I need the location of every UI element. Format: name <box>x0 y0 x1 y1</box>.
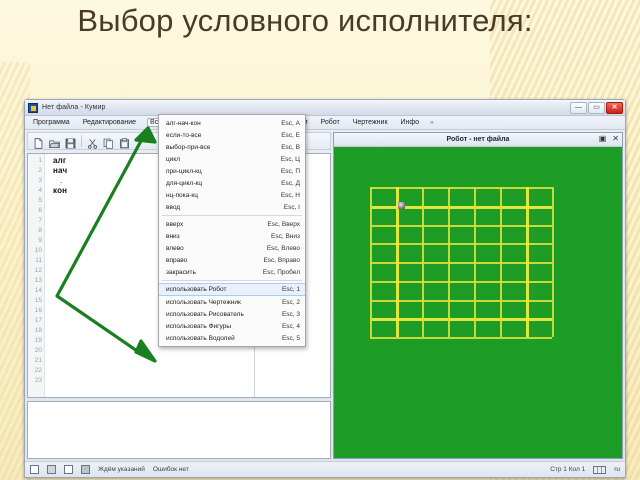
insert-menu-item[interactable]: использовать ФигурыEsc, 4 <box>159 320 305 332</box>
grid-line-vertical <box>396 187 399 337</box>
insert-menu-item[interactable]: если-то-всеEsc, Е <box>159 129 305 141</box>
grid-line-horizontal <box>370 337 552 339</box>
menu-robot[interactable]: Робот <box>319 118 342 127</box>
menu-info[interactable]: Инфо <box>399 118 422 127</box>
open-folder-icon[interactable] <box>49 136 60 147</box>
insert-menu-item-label: использовать Чертежник <box>166 299 276 306</box>
insert-dropdown-menu[interactable]: алг-нач-конEsc, Аесли-то-всеEsc, Евыбор-… <box>158 114 306 347</box>
insert-menu-item-shortcut: Esc, Вниз <box>265 233 300 240</box>
copy-icon[interactable] <box>103 136 114 147</box>
robot-maximize-button[interactable]: ▣ <box>599 134 607 144</box>
insert-menu-item-shortcut: Esc, 2 <box>276 299 300 306</box>
insert-menu-item[interactable]: влевоEsc, Влево <box>159 242 305 254</box>
cut-scissors-icon[interactable] <box>87 136 98 147</box>
window-controls: — ▭ ✕ <box>570 102 623 114</box>
insert-menu-item-label: вниз <box>166 233 265 240</box>
line-number: 15 <box>35 296 44 306</box>
robot-pane: Робот - нет файла ▣ ✕ <box>333 132 623 459</box>
grid-line-vertical <box>552 187 554 337</box>
insert-menu-item-label: алг-нач-кон <box>166 120 275 127</box>
insert-menu-item[interactable]: выбор-при-всеEsc, В <box>159 141 305 153</box>
line-number: 21 <box>35 356 44 366</box>
insert-menu-item-shortcut: Esc, 3 <box>276 311 300 318</box>
line-number: 14 <box>35 286 44 296</box>
insert-menu-item-shortcut: Esc, Вправо <box>257 257 300 264</box>
insert-menu-item-shortcut: Esc, I <box>278 204 300 211</box>
line-number: 1 <box>38 156 44 166</box>
insert-menu-item-shortcut: Esc, Н <box>275 192 300 199</box>
insert-menu-item[interactable]: использовать РоботEsc, 1 <box>159 283 305 296</box>
insert-menu-item-label: использовать Рисователь <box>166 311 276 318</box>
line-number: 20 <box>35 346 44 356</box>
insert-menu-item[interactable]: вверхEsc, Вверх <box>159 218 305 230</box>
insert-menu-item-label: влево <box>166 245 261 252</box>
robot-window-controls: ▣ ✕ <box>599 134 619 144</box>
statusbar-right: Стр 1 Кол 1 ru <box>550 466 620 474</box>
insert-menu-item-label: выбор-при-все <box>166 144 275 151</box>
kumir-app-icon <box>28 103 38 113</box>
insert-menu-item-shortcut: Esc, П <box>275 168 300 175</box>
status-hint: Ждём указаний <box>98 466 145 473</box>
insert-menu-item-label: вверх <box>166 221 261 228</box>
close-button[interactable]: ✕ <box>606 102 623 114</box>
insert-menu-item[interactable]: при-цикл-кцEsc, П <box>159 165 305 177</box>
insert-menu-item[interactable]: алг-нач-конEsc, А <box>159 117 305 129</box>
keyboard-layout-icon[interactable] <box>593 466 606 474</box>
robot-window-titlebar: Робот - нет файла ▣ ✕ <box>334 133 622 147</box>
window-titlebar: Нет файла - Кумир — ▭ ✕ <box>25 100 625 116</box>
menubar: Программа Редактирование Вставка Выполне… <box>25 116 625 130</box>
line-number: 4 <box>38 186 44 196</box>
line-number: 6 <box>38 206 44 216</box>
insert-menu-item-shortcut: Esc, 5 <box>276 335 300 342</box>
menu-separator <box>162 215 302 216</box>
line-number: 23 <box>35 376 44 386</box>
insert-menu-item[interactable]: использовать ВодолейEsc, 5 <box>159 332 305 344</box>
line-number: 2 <box>38 166 44 176</box>
insert-menu-item-label: использовать Фигуры <box>166 323 276 330</box>
insert-menu-item[interactable]: нц-пока-кцEsc, Н <box>159 189 305 201</box>
robot-grid <box>370 187 552 337</box>
minimize-button[interactable]: — <box>570 102 587 114</box>
insert-menu-item-shortcut: Esc, Пробел <box>257 269 300 276</box>
insert-menu-item-label: для-цикл-кц <box>166 180 275 187</box>
menu-programma[interactable]: Программа <box>31 118 72 127</box>
new-file-icon[interactable] <box>33 136 44 147</box>
window-body: 1234567891011121314151617181920212223 ал… <box>25 130 625 461</box>
kumir-application-window: Нет файла - Кумир — ▭ ✕ Программа Редакт… <box>24 99 626 478</box>
insert-menu-item-shortcut: Esc, Д <box>275 180 300 187</box>
insert-menu-item-shortcut: Esc, 1 <box>276 286 300 293</box>
menu-separator <box>162 280 302 281</box>
line-number: 18 <box>35 326 44 336</box>
insert-menu-item-label: ввод <box>166 204 278 211</box>
robot-close-button[interactable]: ✕ <box>612 134 619 144</box>
line-number: 3 <box>38 176 44 186</box>
insert-menu-item-label: вправо <box>166 257 257 264</box>
grid-line-vertical <box>370 187 372 337</box>
insert-menu-item-shortcut: Esc, А <box>275 120 300 127</box>
copy-mode-icon[interactable] <box>64 465 73 474</box>
insert-menu-item-label: цикл <box>166 156 275 163</box>
insert-menu-item-label: при-цикл-кц <box>166 168 275 175</box>
robot-field[interactable] <box>334 147 622 458</box>
bold-mode-icon[interactable] <box>47 465 56 474</box>
insert-menu-item[interactable]: для-цикл-кцEsc, Д <box>159 177 305 189</box>
menu-overflow-icon[interactable]: » <box>430 120 433 126</box>
insert-menu-item[interactable]: закраситьEsc, Пробел <box>159 266 305 278</box>
insert-menu-item-shortcut: Esc, Е <box>275 132 300 139</box>
line-number: 12 <box>35 266 44 276</box>
grid-line-vertical <box>500 187 502 337</box>
insert-menu-item-label: если-то-все <box>166 132 275 139</box>
insert-menu-item-shortcut: Esc, Влево <box>261 245 300 252</box>
maximize-button[interactable]: ▭ <box>588 102 605 114</box>
menu-redaktirovanie[interactable]: Редактирование <box>81 118 138 127</box>
statusbar: Ждём указаний Ошибок нет Стр 1 Кол 1 ru <box>25 461 625 477</box>
line-number: 13 <box>35 276 44 286</box>
paste-icon[interactable] <box>119 136 130 147</box>
line-number: 19 <box>35 336 44 346</box>
line-number: 16 <box>35 306 44 316</box>
delete-mode-icon[interactable] <box>81 465 90 474</box>
insert-menu-item-label: закрасить <box>166 269 257 276</box>
insert-menu-item-shortcut: Esc, Вверх <box>261 221 300 228</box>
grid-line-vertical <box>422 187 424 337</box>
line-number-gutter: 1234567891011121314151617181920212223 <box>28 154 45 397</box>
window-mode-icon[interactable] <box>30 465 39 474</box>
line-number: 9 <box>38 236 44 246</box>
save-disk-icon[interactable] <box>65 136 76 147</box>
insert-menu-item-shortcut: Esc, 4 <box>276 323 300 330</box>
insert-menu-item-label: использовать Робот <box>166 286 276 293</box>
grid-line-vertical <box>474 187 476 337</box>
grid-line-vertical <box>448 187 450 337</box>
insert-menu-item-shortcut: Esc, В <box>275 144 300 151</box>
line-number: 22 <box>35 366 44 376</box>
toolbar-separator <box>81 135 82 147</box>
page-title: Выбор условного исполнителя: <box>70 4 540 37</box>
insert-menu-item-label: использовать Водолей <box>166 335 276 342</box>
line-number: 7 <box>38 216 44 226</box>
menu-chertezhnik[interactable]: Чертежник <box>351 118 390 127</box>
window-title: Нет файла - Кумир <box>42 104 105 111</box>
insert-menu-item[interactable]: вводEsc, I <box>159 201 305 213</box>
insert-menu-item[interactable]: использовать ЧертежникEsc, 2 <box>159 296 305 308</box>
output-panel[interactable] <box>27 401 331 459</box>
line-number: 5 <box>38 196 44 206</box>
robot-window: Робот - нет файла ▣ ✕ <box>333 132 623 459</box>
line-number: 17 <box>35 316 44 326</box>
insert-menu-item[interactable]: циклEsc, Ц <box>159 153 305 165</box>
insert-menu-item[interactable]: внизEsc, Вниз <box>159 230 305 242</box>
line-number: 8 <box>38 226 44 236</box>
cursor-position: Стр 1 Кол 1 <box>550 466 585 473</box>
insert-menu-item-label: нц-пока-кц <box>166 192 275 199</box>
status-errors: Ошибок нет <box>153 466 189 473</box>
robot-window-title: Робот - нет файла <box>447 136 510 143</box>
line-number: 11 <box>35 256 44 266</box>
insert-menu-item[interactable]: использовать РисовательEsc, 3 <box>159 308 305 320</box>
insert-menu-item-shortcut: Esc, Ц <box>275 156 300 163</box>
keyboard-layout-label: ru <box>614 466 620 473</box>
line-number: 10 <box>35 246 44 256</box>
robot-marker-icon <box>398 202 405 209</box>
insert-menu-item[interactable]: вправоEsc, Вправо <box>159 254 305 266</box>
grid-line-vertical <box>526 187 529 337</box>
